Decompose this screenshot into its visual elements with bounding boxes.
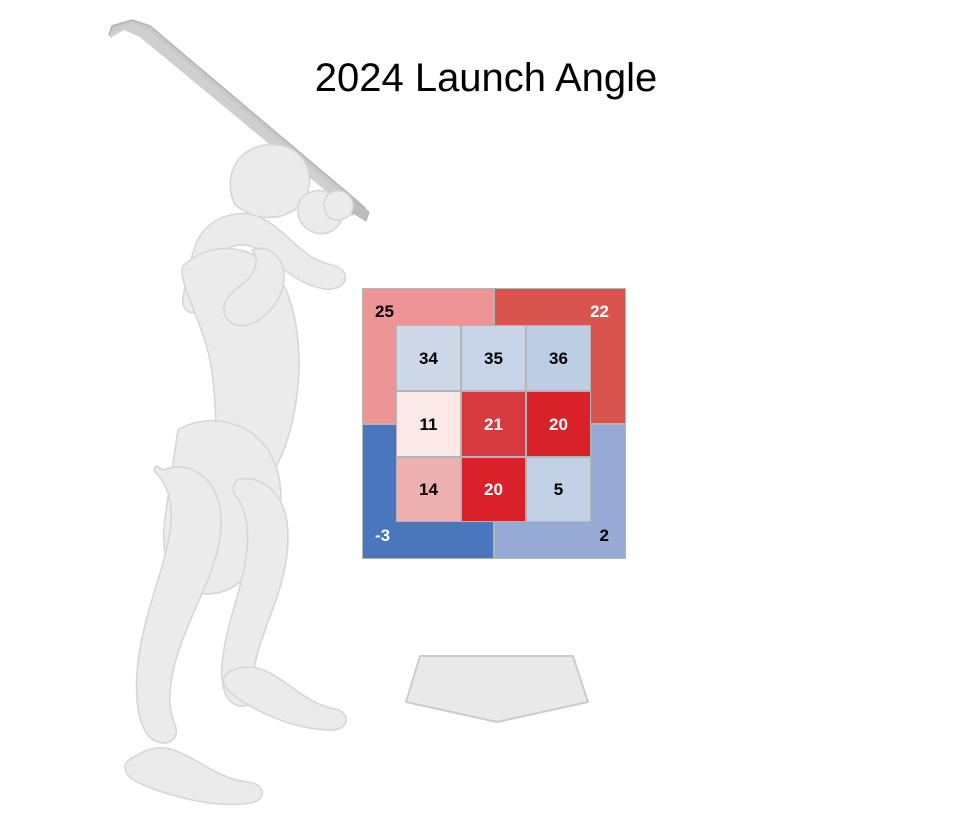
zone-cell-8[interactable]: 20 [461, 457, 526, 522]
outer-zone-bottom-right-value: 2 [600, 527, 609, 544]
baseball-bat-icon [109, 20, 369, 221]
inner-strike-zone-grid: 34 35 36 11 21 20 14 20 [396, 325, 591, 522]
zone-cell-1[interactable]: 34 [396, 325, 461, 391]
zone-cell-6[interactable]: 20 [526, 391, 591, 457]
zone-cell-7-value: 14 [419, 481, 438, 498]
outer-zone-bottom-left-value: -3 [375, 527, 390, 544]
zone-cell-9[interactable]: 5 [526, 457, 591, 522]
zone-cell-5-value: 21 [484, 416, 503, 433]
batter-silhouette-icon [125, 145, 353, 805]
zone-cell-6-value: 20 [549, 416, 568, 433]
outer-zone-top-right-value: 22 [590, 303, 609, 320]
zone-cell-9-value: 5 [554, 481, 563, 498]
page-title: 2024 Launch Angle [0, 58, 972, 98]
zone-cell-4[interactable]: 11 [396, 391, 461, 457]
zone-cell-1-value: 34 [419, 350, 438, 367]
zone-cell-8-value: 20 [484, 481, 503, 498]
zone-cell-2[interactable]: 35 [461, 325, 526, 391]
launch-angle-figure: 2024 Launch Angle [0, 0, 972, 824]
zone-cell-5[interactable]: 21 [461, 391, 526, 457]
zone-cell-3[interactable]: 36 [526, 325, 591, 391]
zone-cell-3-value: 36 [549, 350, 568, 367]
strikezone-heatmap: 25 22 -3 2 34 35 36 11 21 [362, 288, 626, 559]
zone-cell-2-value: 35 [484, 350, 503, 367]
zone-cell-4-value: 11 [420, 416, 438, 433]
outer-zone-top-left-value: 25 [375, 303, 394, 320]
home-plate-icon [406, 656, 588, 722]
zone-cell-7[interactable]: 14 [396, 457, 461, 522]
